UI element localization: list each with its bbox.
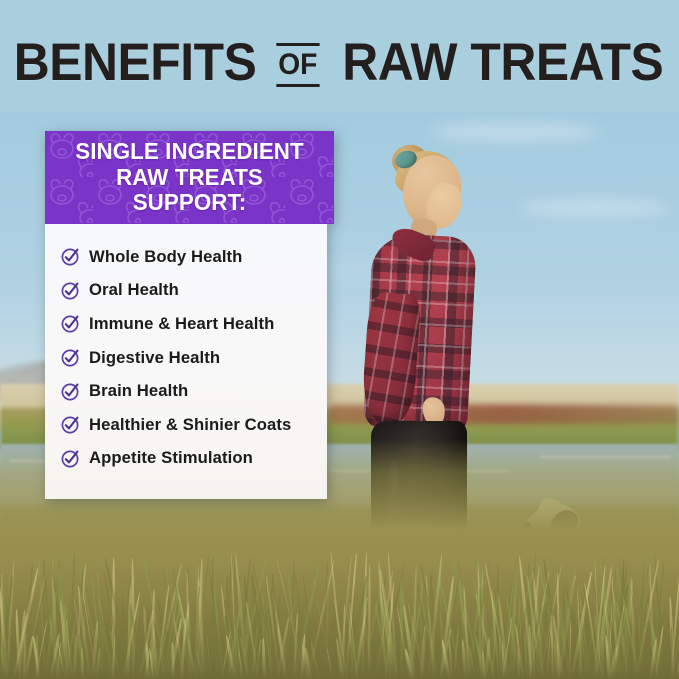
title-banner: BENEFITS OF RAW TREATS [0,0,679,112]
title-raw-treats: RAW TREATS [342,36,663,89]
list-item-label: Immune & Heart Health [89,314,274,334]
callout-header: SINGLE INGREDIENT RAW TREATS SUPPORT: [45,131,334,224]
check-circle-icon [61,382,80,401]
check-circle-icon [61,247,80,266]
list-item-label: Healthier & Shinier Coats [89,415,291,435]
benefits-callout-card: SINGLE INGREDIENT RAW TREATS SUPPORT: Wh… [45,131,334,499]
benefits-list: Whole Body Health Oral Health Immune & H… [45,240,327,475]
cloud-wisp [520,200,670,216]
list-item-label: Oral Health [89,280,179,300]
callout-body: Whole Body Health Oral Health Immune & H… [45,224,327,499]
title-benefits: BENEFITS [14,36,257,89]
list-item-label: Digestive Health [89,348,220,368]
list-item-label: Appetite Stimulation [89,448,253,468]
callout-heading: SINGLE INGREDIENT RAW TREATS SUPPORT: [49,139,329,216]
list-item: Appetite Stimulation [45,442,327,476]
callout-heading-line1: SINGLE INGREDIENT [57,139,322,165]
list-item: Immune & Heart Health [45,307,327,341]
list-item: Whole Body Health [45,240,327,274]
page-title: BENEFITS OF RAW TREATS [0,36,679,89]
list-item: Healthier & Shinier Coats [45,408,327,442]
title-of: OF [277,45,318,85]
list-item-label: Whole Body Health [89,247,242,267]
list-item-label: Brain Health [89,381,188,401]
check-circle-icon [61,348,80,367]
grass-shadow-tint [0,559,679,679]
check-circle-icon [61,281,80,300]
callout-heading-line2: RAW TREATS SUPPORT: [57,165,322,217]
poster-root: BENEFITS OF RAW TREATS [0,0,679,679]
check-circle-icon [61,449,80,468]
list-item: Brain Health [45,374,327,408]
list-item: Oral Health [45,274,327,308]
list-item: Digestive Health [45,341,327,375]
check-circle-icon [61,314,80,333]
check-circle-icon [61,415,80,434]
cloud-wisp [430,122,600,142]
